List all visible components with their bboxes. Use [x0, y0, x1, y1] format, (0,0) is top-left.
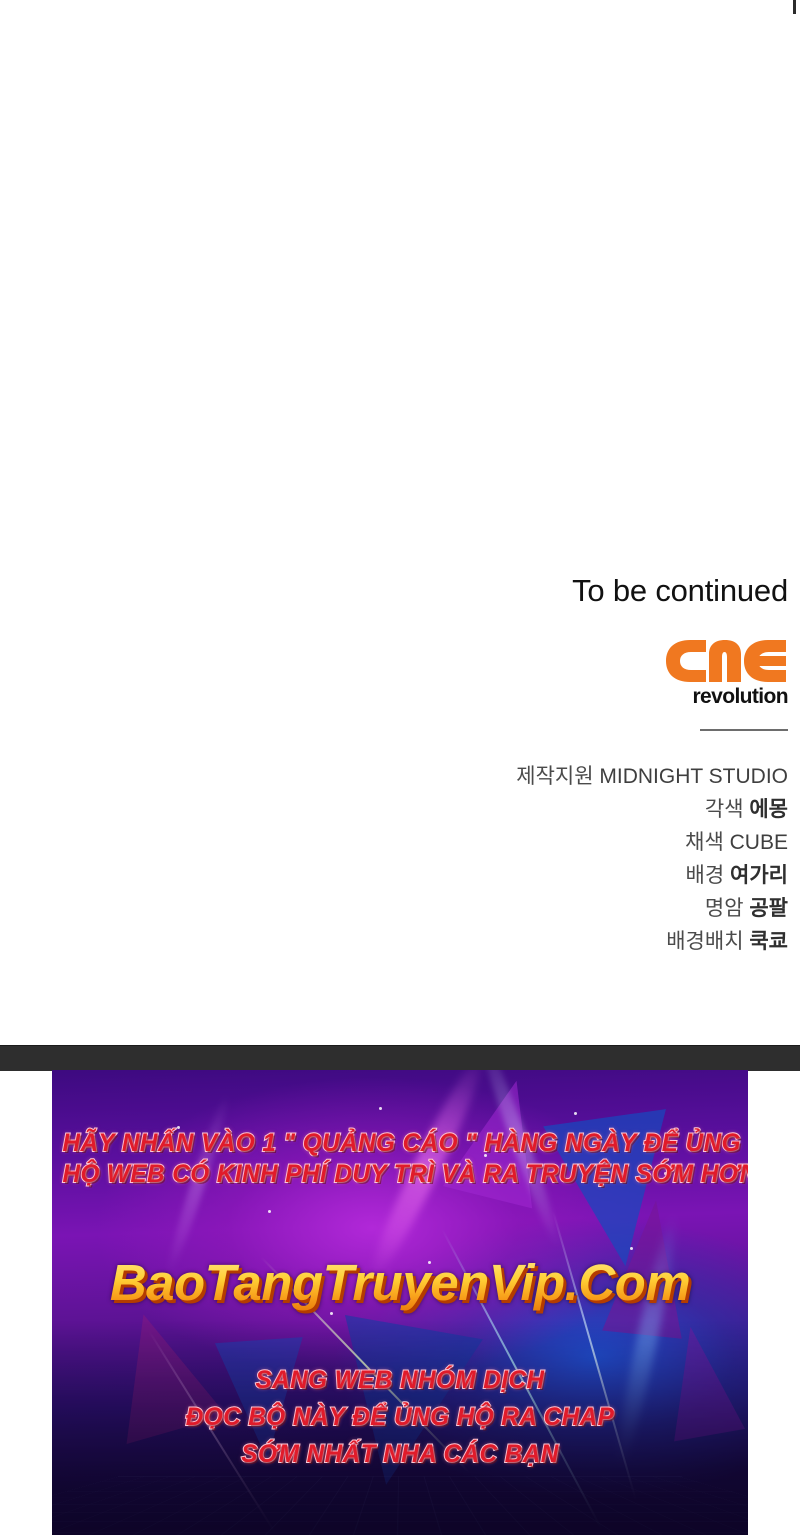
credit-row: 배경배치 쿡쿄 [268, 925, 788, 958]
credit-row: 제작지원 MIDNIGHT STUDIO [268, 760, 788, 793]
credit-row: 배경 여가리 [268, 859, 788, 892]
promo-footer-line: SANG WEB NHÓM DỊCH [62, 1362, 737, 1399]
promo-headline-line: HỘ WEB CÓ KINH PHÍ DUY TRÌ VÀ RA TRUYỆN … [62, 1159, 737, 1190]
promo-headline-block: HÃY NHẤN VÀO 1 " QUẢNG CÁO " HÀNG NGÀY Đ… [52, 1128, 748, 1190]
comic-page-panel: To be continued revolution 제작지원 MI [0, 0, 800, 1045]
site-title-link[interactable]: BaoTangTruyenVip.Com [52, 1253, 748, 1312]
credit-role: 각색 [705, 798, 744, 821]
credit-name: 에몽 [749, 798, 788, 821]
credits-list: 제작지원 MIDNIGHT STUDIO 각색 에몽 채색 CUBE 배경 여가… [268, 760, 788, 958]
credit-role: 제작지원 [516, 765, 593, 788]
credit-role: 명암 [705, 897, 744, 920]
cnc-revolution-logo: revolution [664, 638, 788, 709]
credit-role: 배경배치 [666, 930, 743, 953]
credit-name: 공팔 [749, 897, 788, 920]
to-be-continued-text: To be continued [572, 575, 788, 608]
cnc-logo-wordmark: revolution [664, 685, 788, 709]
promo-footer-line: SỚM NHẤT NHA CÁC BẠN [62, 1436, 737, 1473]
promo-headline-line: HÃY NHẤN VÀO 1 " QUẢNG CÁO " HÀNG NGÀY Đ… [62, 1128, 737, 1159]
credit-name: CUBE [730, 831, 788, 854]
promo-footer-line: ĐỌC BỘ NÀY ĐỂ ỦNG HỘ RA CHAP [62, 1399, 737, 1436]
credit-row: 채색 CUBE [268, 826, 788, 859]
credit-name: 쿡쿄 [749, 930, 788, 953]
credit-row: 각색 에몽 [268, 793, 788, 826]
page-corner-mark [793, 0, 796, 14]
page-separator-strip [0, 1045, 800, 1071]
credit-role: 배경 [686, 864, 725, 887]
credits-divider [700, 729, 788, 731]
promo-banner[interactable]: HÃY NHẤN VÀO 1 " QUẢNG CÁO " HÀNG NGÀY Đ… [52, 1070, 748, 1535]
credit-name: 여가리 [730, 864, 788, 887]
banner-text-content: HÃY NHẤN VÀO 1 " QUẢNG CÁO " HÀNG NGÀY Đ… [52, 1070, 748, 1535]
credit-row: 명암 공팔 [268, 892, 788, 925]
credit-role: 채색 [685, 831, 724, 854]
credit-name: MIDNIGHT STUDIO [599, 765, 788, 788]
cnc-logo-mark-icon [664, 638, 788, 684]
promo-footer-block: SANG WEB NHÓM DỊCH ĐỌC BỘ NÀY ĐỂ ỦNG HỘ … [52, 1362, 748, 1473]
